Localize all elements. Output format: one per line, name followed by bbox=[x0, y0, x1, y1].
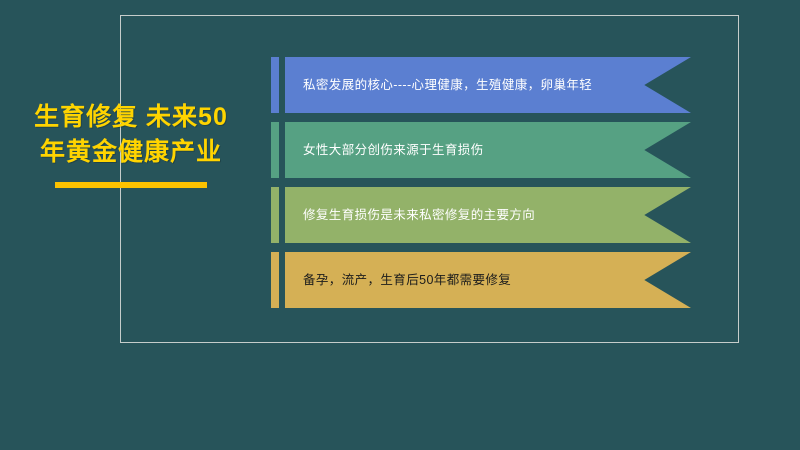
list-item[interactable]: 私密发展的核心----心理健康，生殖健康，卵巢年轻 bbox=[271, 57, 691, 113]
list-item[interactable]: 女性大部分创伤来源于生育损伤 bbox=[271, 122, 691, 178]
banner-shape-1[interactable]: 私密发展的核心----心理健康，生殖健康，卵巢年轻 bbox=[285, 57, 691, 113]
banner-accent-bar-3 bbox=[271, 187, 279, 243]
banner-shape-4[interactable]: 备孕，流产，生育后50年都需要修复 bbox=[285, 252, 691, 308]
banner-accent-bar-2 bbox=[271, 122, 279, 178]
list-item[interactable]: 备孕，流产，生育后50年都需要修复 bbox=[271, 252, 691, 308]
banner-accent-bar-1 bbox=[271, 57, 279, 113]
banner-list: 私密发展的核心----心理健康，生殖健康，卵巢年轻 女性大部分创伤来源于生育损伤… bbox=[271, 57, 691, 317]
banner-shape-3[interactable]: 修复生育损伤是未来私密修复的主要方向 bbox=[285, 187, 691, 243]
banner-gap-2 bbox=[279, 122, 285, 178]
banner-shape-2[interactable]: 女性大部分创伤来源于生育损伤 bbox=[285, 122, 691, 178]
banner-label-4: 备孕，流产，生育后50年都需要修复 bbox=[285, 272, 581, 288]
banner-gap-3 bbox=[279, 187, 285, 243]
banner-label-3: 修复生育损伤是未来私密修复的主要方向 bbox=[285, 207, 605, 223]
banner-gap-1 bbox=[279, 57, 285, 113]
slide-canvas: 生育修复 未来50年黄金健康产业 私密发展的核心----心理健康，生殖健康，卵巢… bbox=[0, 0, 800, 450]
banner-label-2: 女性大部分创伤来源于生育损伤 bbox=[285, 142, 554, 158]
list-item[interactable]: 修复生育损伤是未来私密修复的主要方向 bbox=[271, 187, 691, 243]
title-block: 生育修复 未来50年黄金健康产业 bbox=[22, 100, 240, 188]
banner-gap-4 bbox=[279, 252, 285, 308]
page-title: 生育修复 未来50年黄金健康产业 bbox=[22, 100, 240, 170]
banner-accent-bar-4 bbox=[271, 252, 279, 308]
title-underline-rule bbox=[55, 182, 207, 188]
banner-label-1: 私密发展的核心----心理健康，生殖健康，卵巢年轻 bbox=[285, 77, 662, 93]
